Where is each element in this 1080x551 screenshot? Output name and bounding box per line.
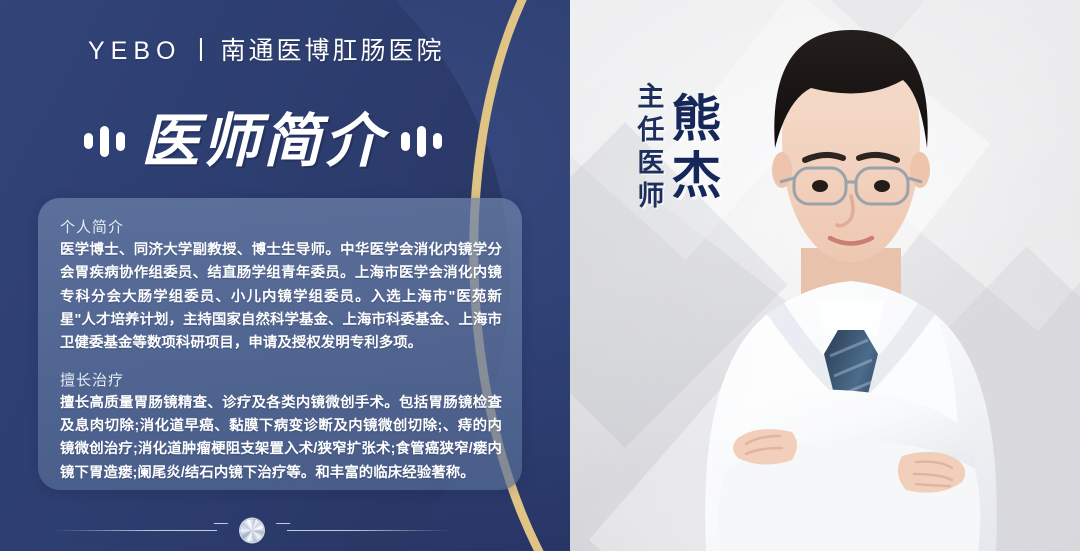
tick-marks-right-icon <box>401 119 442 163</box>
poster-canvas: YEBO丨南通医博肛肠医院 医师简介 个人简介 医学博士、同济大学副教授、博士生… <box>0 0 1080 551</box>
profile-body: 医学博士、同济大学副教授、博士生导师。中华医学会消化内镜学分会胃疾病协作组委员、… <box>60 239 502 356</box>
gem-medallion-icon <box>241 519 264 542</box>
divider-line-right <box>287 530 452 531</box>
brand-logo: YEBO丨南通医博肛肠医院 <box>88 31 445 67</box>
brand-cn: 南通医博肛肠医院 <box>221 37 445 65</box>
specialty-heading: 擅长治疗 <box>60 369 502 390</box>
doctor-name-block: 主任医师 熊杰 <box>634 82 718 214</box>
doctor-name: 熊杰 <box>666 92 718 206</box>
page-title-row: 医师简介 <box>84 112 442 170</box>
brand-separator: 丨 <box>181 37 220 65</box>
specialty-body: 擅长高质量胃肠镜精查、诊疗及各类内镜微创手术。包括胃肠镜检查及息肉切除;消化道早… <box>60 392 502 485</box>
profile-section: 个人简介 医学博士、同济大学副教授、博士生导师。中华医学会消化内镜学分会胃疾病协… <box>60 216 502 356</box>
doctor-role: 主任医师 <box>634 82 662 214</box>
tick-marks-left-icon <box>84 119 125 163</box>
profile-heading: 个人简介 <box>60 216 502 237</box>
specialty-section: 擅长治疗 擅长高质量胃肠镜精查、诊疗及各类内镜微创手术。包括胃肠镜检查及息肉切除… <box>60 369 502 485</box>
page-title: 医师简介 <box>141 112 385 170</box>
brand-en: YEBO <box>88 37 181 65</box>
divider-line-left <box>52 530 217 531</box>
doctor-info-card: 个人简介 医学博士、同济大学副教授、博士生导师。中华医学会消化内镜学分会胃疾病协… <box>38 198 522 490</box>
bottom-divider <box>52 519 452 541</box>
